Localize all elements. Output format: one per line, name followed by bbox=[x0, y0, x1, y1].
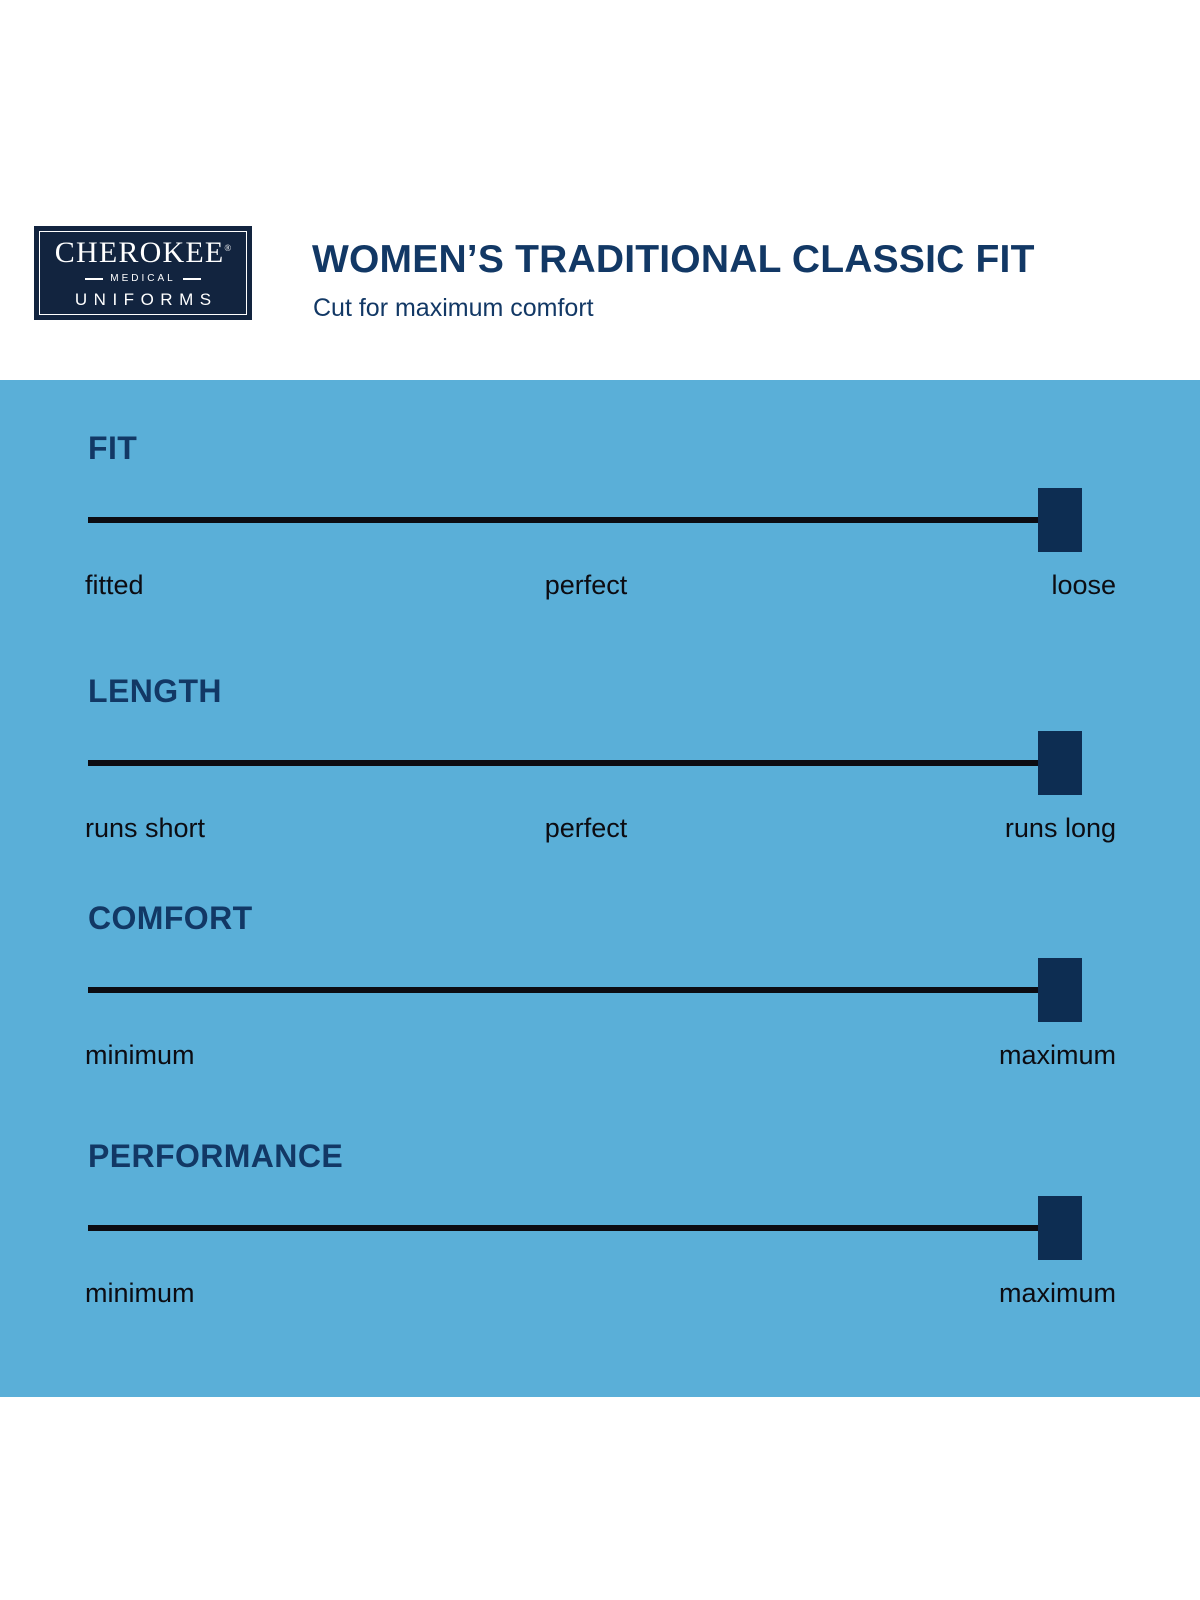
meter-comfort-title: COMFORT bbox=[88, 902, 253, 934]
logo-uniforms-text: UNIFORMS bbox=[68, 291, 217, 308]
header: CHEROKEE® MEDICAL UNIFORMS WOMEN’S TRADI… bbox=[0, 0, 1200, 380]
meter-comfort: COMFORT minimum maximum bbox=[0, 850, 1200, 1090]
page-title: WOMEN’S TRADITIONAL CLASSIC FIT bbox=[312, 240, 1035, 279]
meter-length: LENGTH runs short perfect runs long bbox=[0, 623, 1200, 863]
meter-length-title: LENGTH bbox=[88, 675, 222, 707]
meter-performance-knob[interactable] bbox=[1038, 1196, 1082, 1260]
meter-fit-slider[interactable] bbox=[88, 488, 1082, 552]
cherokee-logo: CHEROKEE® MEDICAL UNIFORMS bbox=[34, 226, 252, 320]
logo-rule-left-icon bbox=[85, 278, 103, 280]
logo-inner-border: CHEROKEE® MEDICAL UNIFORMS bbox=[39, 231, 247, 315]
meter-comfort-knob[interactable] bbox=[1038, 958, 1082, 1022]
fit-guide-page: CHEROKEE® MEDICAL UNIFORMS WOMEN’S TRADI… bbox=[0, 0, 1200, 1600]
meter-fit-labels: fitted perfect loose bbox=[0, 572, 1200, 606]
meter-comfort-labels: minimum maximum bbox=[0, 1042, 1200, 1076]
meter-length-label-right: runs long bbox=[1005, 815, 1116, 842]
meters-panel: FIT fitted perfect loose LENGTH runs sho… bbox=[0, 380, 1200, 1397]
meter-comfort-track bbox=[88, 987, 1082, 993]
meter-performance: PERFORMANCE minimum maximum bbox=[0, 1088, 1200, 1328]
meter-length-track bbox=[88, 760, 1082, 766]
page-subtitle: Cut for maximum comfort bbox=[313, 296, 594, 321]
meter-fit-label-right: loose bbox=[1051, 572, 1116, 599]
logo-brand-name: CHEROKEE® bbox=[55, 238, 231, 268]
meter-performance-labels: minimum maximum bbox=[0, 1280, 1200, 1314]
meter-length-label-mid: perfect bbox=[0, 815, 1172, 842]
meter-comfort-label-right: maximum bbox=[999, 1042, 1116, 1069]
meter-fit: FIT fitted perfect loose bbox=[0, 380, 1200, 620]
meter-performance-label-right: maximum bbox=[999, 1280, 1116, 1307]
meter-performance-title: PERFORMANCE bbox=[88, 1140, 343, 1172]
meter-fit-label-mid: perfect bbox=[0, 572, 1172, 599]
logo-medical-row: MEDICAL bbox=[85, 274, 200, 284]
meter-length-knob[interactable] bbox=[1038, 731, 1082, 795]
registered-trademark-icon: ® bbox=[224, 243, 231, 253]
meter-fit-track bbox=[88, 517, 1082, 523]
meter-comfort-label-left: minimum bbox=[85, 1042, 195, 1069]
meter-fit-title: FIT bbox=[88, 432, 137, 464]
meter-performance-slider[interactable] bbox=[88, 1196, 1082, 1260]
logo-medical-text: MEDICAL bbox=[110, 274, 175, 284]
meter-comfort-slider[interactable] bbox=[88, 958, 1082, 1022]
logo-rule-right-icon bbox=[183, 278, 201, 280]
meter-fit-knob[interactable] bbox=[1038, 488, 1082, 552]
meter-length-labels: runs short perfect runs long bbox=[0, 815, 1200, 849]
meter-performance-label-left: minimum bbox=[85, 1280, 195, 1307]
meter-length-slider[interactable] bbox=[88, 731, 1082, 795]
meter-performance-track bbox=[88, 1225, 1082, 1231]
logo-brand-text: CHEROKEE bbox=[55, 236, 225, 269]
